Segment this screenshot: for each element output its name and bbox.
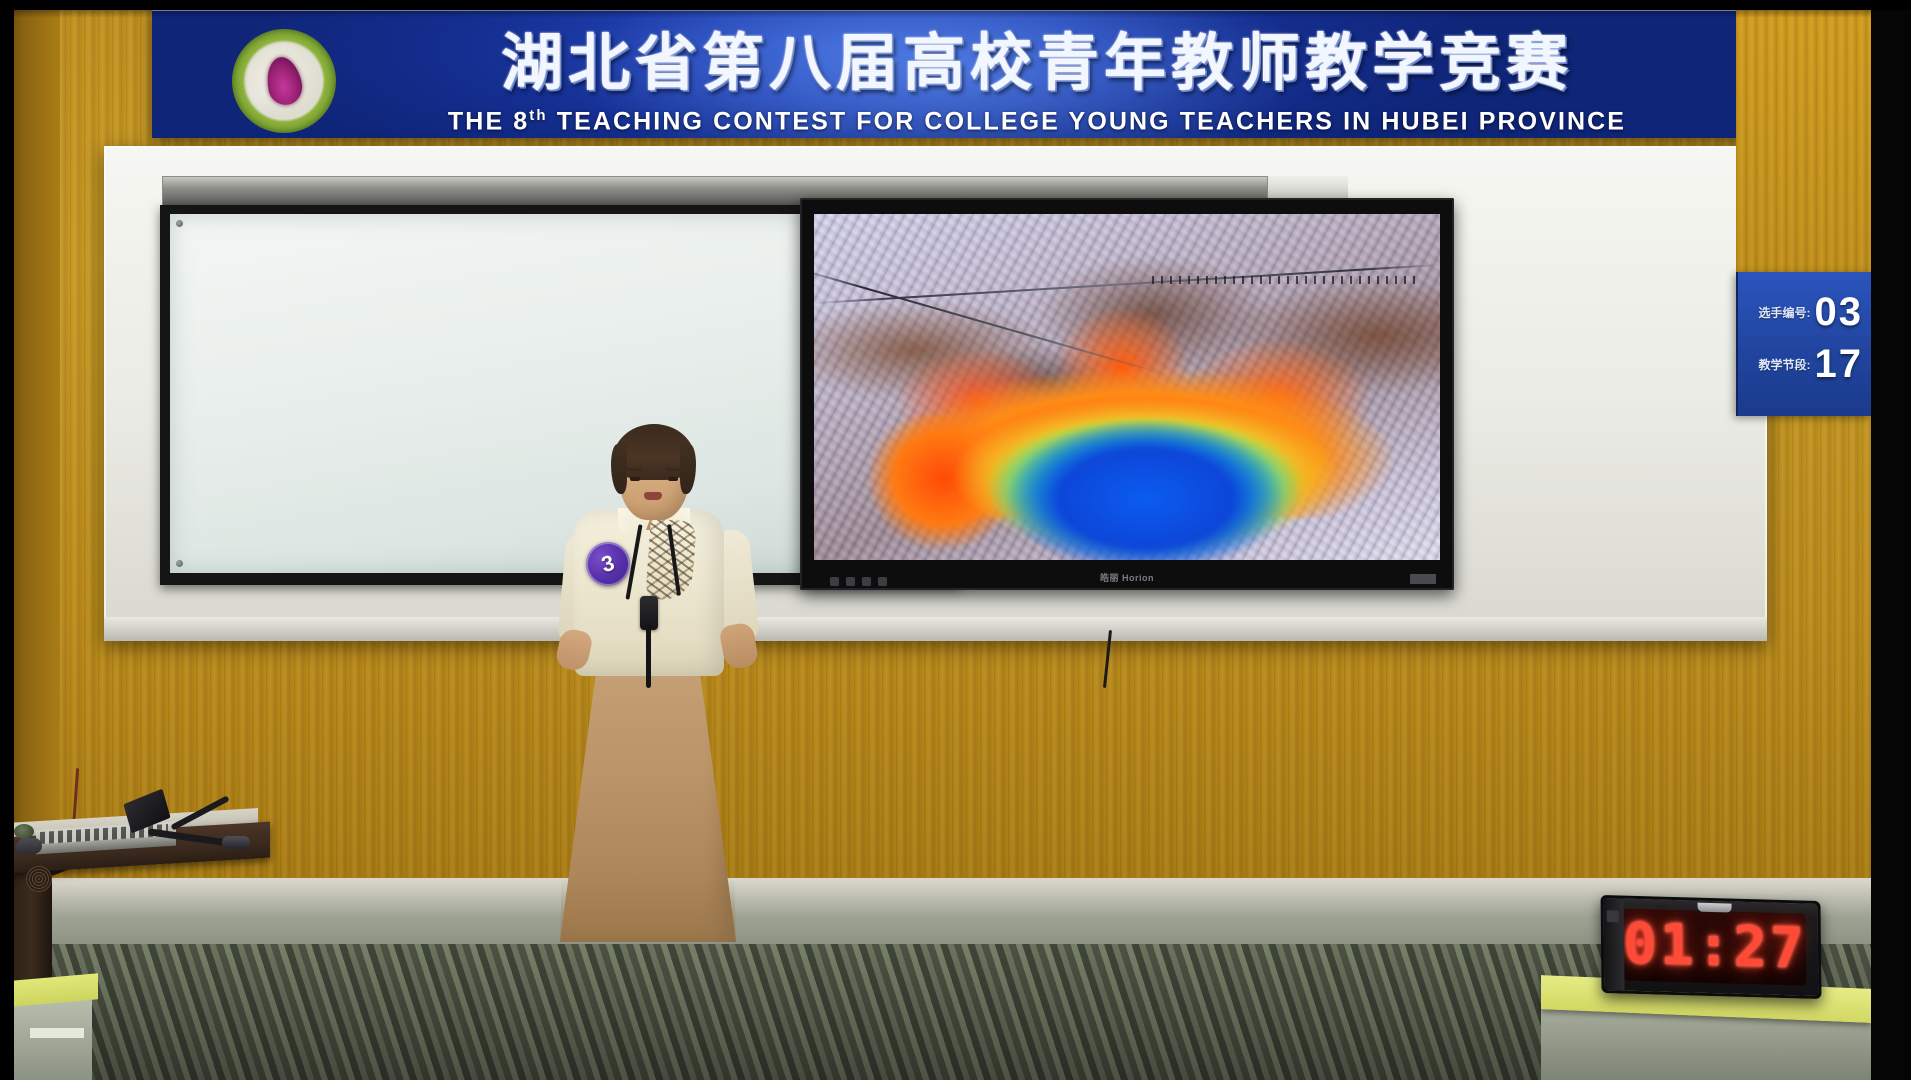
timer-clip xyxy=(1607,910,1619,922)
screenshot-stage: 湖北省第八届高校青年教师教学竞赛 THE 8th TEACHING CONTES… xyxy=(0,0,1911,1080)
countdown-timer-device: 01:27 xyxy=(1600,895,1821,999)
presenter-eyebrow-right xyxy=(666,468,680,471)
interactive-display-panel[interactable]: 皓丽 Horion xyxy=(800,198,1454,590)
gps-visitors xyxy=(1152,276,1415,284)
presenter-skirt-hem xyxy=(560,876,736,942)
whiteboard-screw-tl xyxy=(176,220,183,227)
display-power-button[interactable] xyxy=(830,577,839,586)
slide-image-grand-prismatic-spring xyxy=(814,214,1440,560)
presenter-hair-side-right xyxy=(680,444,696,494)
scoreboard-wall-column xyxy=(1736,0,1871,272)
subtitle-prefix: THE xyxy=(448,107,513,135)
subtitle-rest: TEACHING CONTEST FOR COLLEGE YOUNG TEACH… xyxy=(548,107,1626,135)
display-menu-button[interactable] xyxy=(862,577,871,586)
scoreboard-value-segment: 17 xyxy=(1815,344,1864,384)
frame-left-letterbox xyxy=(0,0,14,1080)
presenter-mouth xyxy=(644,492,662,500)
display-screen[interactable] xyxy=(814,214,1440,560)
presenter-eye-right xyxy=(668,477,678,481)
display-button-row[interactable] xyxy=(830,577,887,586)
scoreboard-label-contestant: 选手编号: xyxy=(1759,304,1811,321)
timer-digits: 01:27 xyxy=(1623,917,1807,978)
presenter-eye-left xyxy=(630,477,640,481)
scoreboard-value-contestant: 03 xyxy=(1815,292,1864,332)
gps-blue-center xyxy=(952,394,1340,560)
student-desk-left-drawer xyxy=(30,1028,84,1038)
scoreboard-label-segment: 教学节段: xyxy=(1759,356,1811,373)
display-brand-logo: 皓丽 Horion xyxy=(1100,571,1154,584)
lectern-mouse[interactable] xyxy=(16,837,42,855)
lectern-control-knob[interactable] xyxy=(14,824,34,839)
timer-top-notch xyxy=(1698,903,1732,913)
banner-title-chinese: 湖北省第八届高校青年教师教学竞赛 xyxy=(367,29,1707,99)
display-volume-button[interactable] xyxy=(878,577,887,586)
timer-display-face: 01:27 xyxy=(1624,909,1807,986)
frame-right-letterbox xyxy=(1871,0,1911,1080)
event-emblem-icon xyxy=(232,29,336,133)
presenter-badge-number: 3 xyxy=(599,550,618,578)
emblem-inner xyxy=(247,44,321,118)
scoreboard-row-segment: 教学节段: 17 xyxy=(1744,338,1863,390)
display-source-button[interactable] xyxy=(846,577,855,586)
presenter-hair-side-left xyxy=(611,444,627,494)
event-banner: 湖北省第八届高校青年教师教学竞赛 THE 8th TEACHING CONTES… xyxy=(152,8,1766,138)
lectern-microphone-head xyxy=(222,836,250,849)
presenter-eyebrow-left xyxy=(628,468,642,471)
lectern-speaker-grille-icon xyxy=(26,866,52,892)
contestant-scoreboard: 选手编号: 03 教学节段: 17 xyxy=(1736,272,1871,416)
frame-top-letterbox xyxy=(0,0,1911,10)
banner-subtitle-english: THE 8th TEACHING CONTEST FOR COLLEGE YOU… xyxy=(367,107,1707,136)
display-corner-badge xyxy=(1410,574,1436,584)
scoreboard-row-contestant: 选手编号: 03 xyxy=(1744,286,1863,338)
subtitle-ordinal-suffix: th xyxy=(529,107,547,124)
presenter-speaker: 3 xyxy=(556,424,756,944)
presenter-microphone-stem xyxy=(646,624,651,688)
whiteboard-screw-bl xyxy=(176,560,183,567)
subtitle-ordinal: 8 xyxy=(513,107,529,135)
board-frame-bottom-lip xyxy=(104,617,1767,641)
